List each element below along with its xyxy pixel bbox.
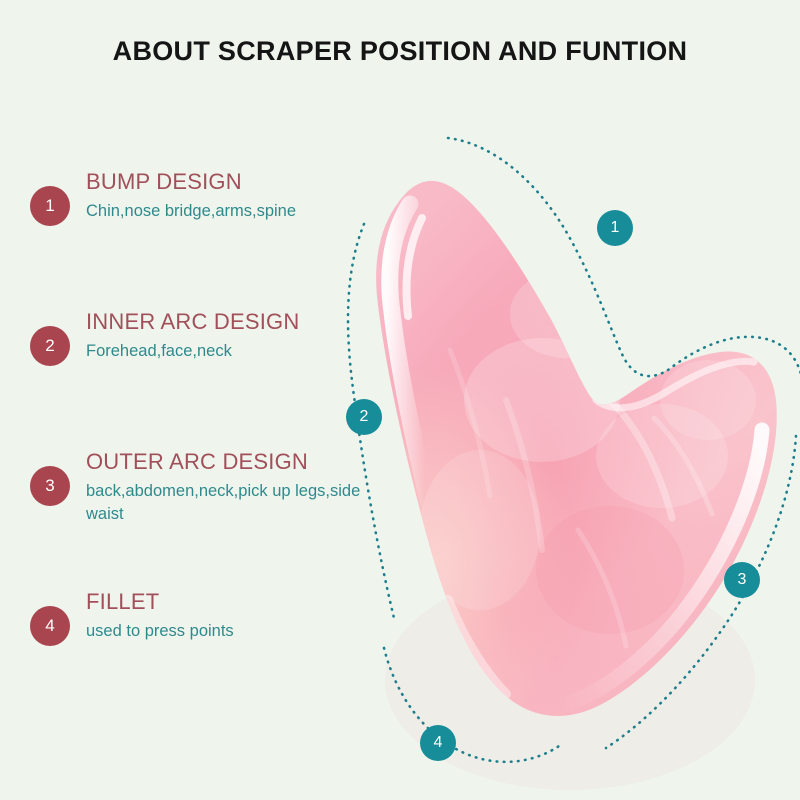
feature-badge-4: 4 [30,606,70,646]
feature-badge-2: 2 [30,326,70,366]
feature-badge-1: 1 [30,186,70,226]
product-marker-4: 4 [420,725,456,761]
page-title: ABOUT SCRAPER POSITION AND FUNTION [0,36,800,67]
product-marker-3: 3 [724,562,760,598]
product-marker-2: 2 [346,399,382,435]
product-marker-1: 1 [597,210,633,246]
product-image-gua-sha-scraper [310,100,800,800]
feature-badge-3: 3 [30,466,70,506]
infographic-poster: ABOUT SCRAPER POSITION AND FUNTION 1 BUM… [0,0,800,800]
